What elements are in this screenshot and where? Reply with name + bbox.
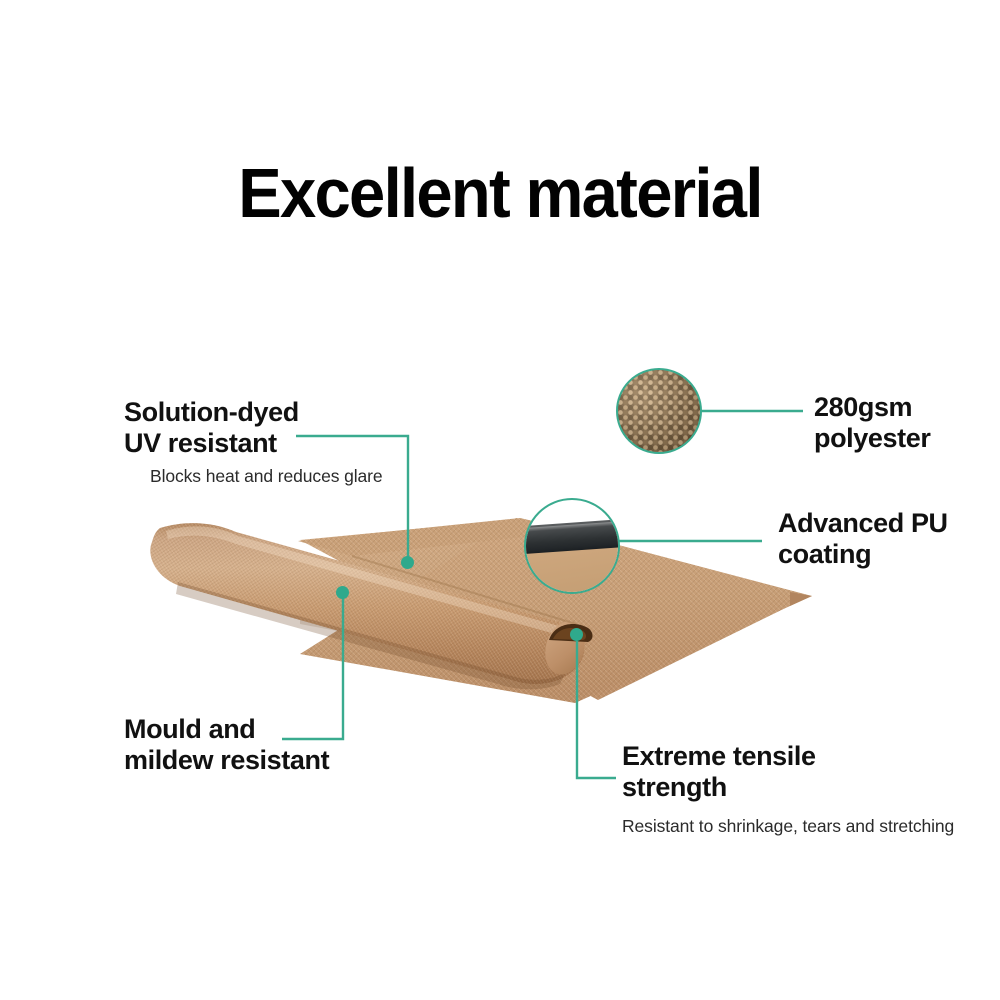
callout-subtitle-extreme-tensile-strength: Resistant to shrinkage, tears and stretc… — [622, 816, 954, 837]
infographic-canvas: Excellent material — [0, 0, 1000, 1000]
callout-subtitle-solution-dyed-uv: Blocks heat and reduces glare — [150, 466, 383, 487]
callout-title-extreme-tensile-strength: Extreme tensile strength — [622, 741, 882, 804]
fabric-illustration — [0, 0, 1000, 1000]
pu-coating-magnifier — [524, 498, 620, 594]
sheet-right-edge — [790, 592, 812, 606]
leader-dot-tensile — [570, 628, 583, 641]
callout-title-advanced-pu-coating: Advanced PU coating — [778, 508, 988, 571]
leader-dot-uv — [401, 556, 414, 569]
callout-title-mould-mildew-resistant: Mould and mildew resistant — [124, 714, 444, 777]
weave-magnifier — [616, 368, 702, 454]
callout-title-solution-dyed-uv: Solution-dyed UV resistant — [124, 397, 424, 460]
weave-shading — [618, 370, 700, 452]
leader-dot-mould — [336, 586, 349, 599]
callout-title-280gsm-polyester: 280gsm polyester — [814, 392, 994, 455]
